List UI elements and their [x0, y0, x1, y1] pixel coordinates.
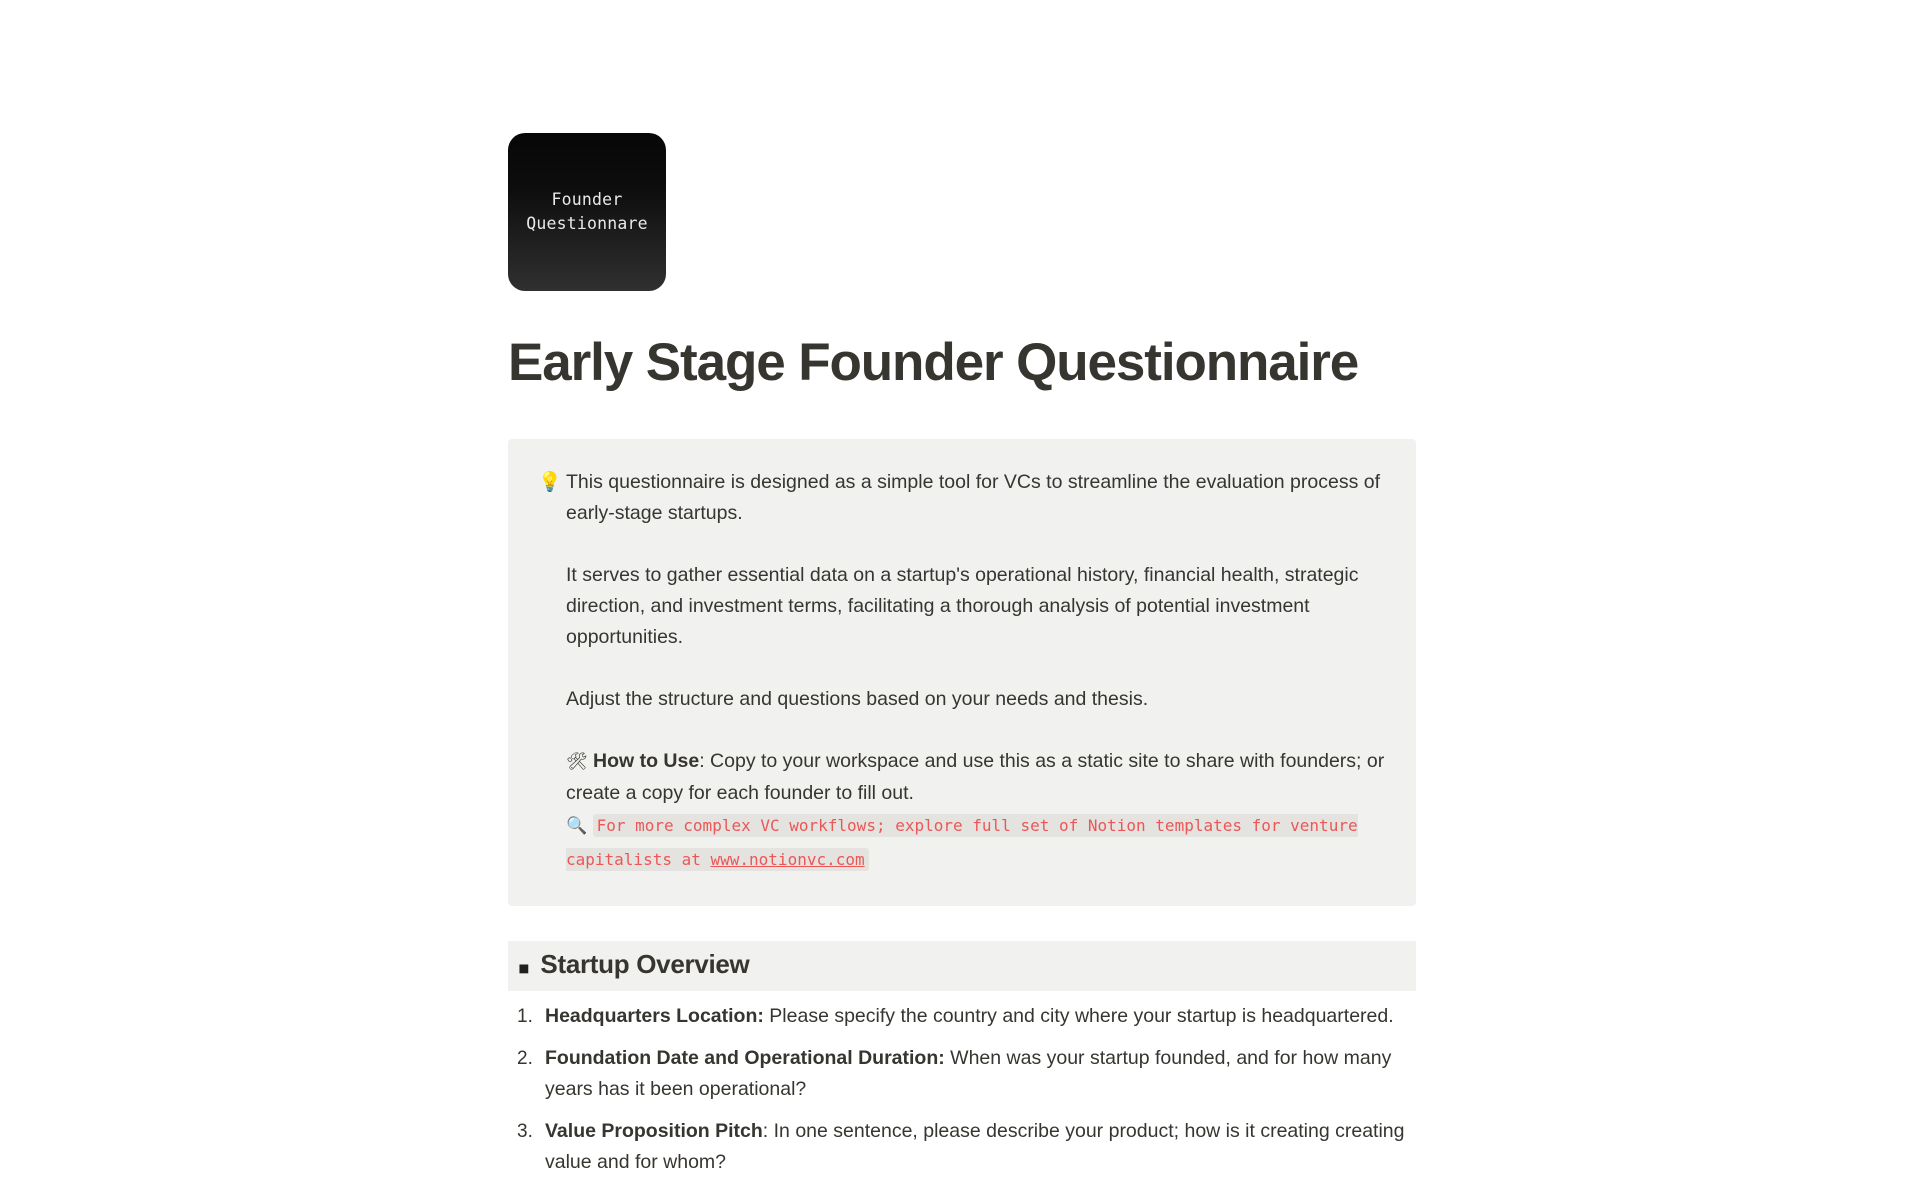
callout-paragraph-2: It serves to gather essential data on a … — [566, 560, 1386, 653]
callout-paragraph-3: Adjust the structure and questions based… — [566, 684, 1386, 715]
question-text: Please specify the country and city wher… — [764, 1005, 1394, 1027]
how-to-use-paragraph: 🛠 How to Use: Copy to your workspace and… — [566, 746, 1386, 809]
notionvc-link[interactable]: www.notionvc.com — [711, 850, 865, 869]
section-heading-startup-overview: ◾ Startup Overview — [508, 941, 1416, 991]
page-icon-container: Founder Questionnare — [508, 0, 1416, 291]
list-item: Foundation Date and Operational Duration… — [508, 1043, 1416, 1105]
question-label: Headquarters Location: — [545, 1005, 764, 1027]
startup-overview-question-list: Headquarters Location: Please specify th… — [508, 1001, 1416, 1178]
lightbulb-icon: 💡 — [538, 467, 566, 498]
list-item: Value Proposition Pitch: In one sentence… — [508, 1116, 1416, 1178]
question-label: Foundation Date and Operational Duration… — [545, 1047, 945, 1069]
callout-paragraph-1: This questionnaire is designed as a simp… — [566, 467, 1386, 529]
intro-callout: 💡 This questionnaire is designed as a si… — [508, 439, 1416, 906]
document-page: Founder Questionnare Early Stage Founder… — [0, 0, 1920, 1199]
magnifying-glass-icon: 🔍 — [566, 816, 587, 836]
code-note-text: For more complex VC workflows; explore f… — [566, 814, 1358, 871]
code-note-body: For more complex VC workflows; explore f… — [566, 816, 1358, 869]
how-to-use-separator: : — [699, 750, 710, 772]
list-item: Headquarters Location: Please specify th… — [508, 1001, 1416, 1032]
callout-inner: 💡 This questionnaire is designed as a si… — [538, 467, 1386, 876]
how-to-use-label: How to Use — [593, 750, 699, 772]
code-note-paragraph: 🔍 For more complex VC workflows; explore… — [566, 809, 1386, 876]
page-icon-label: Founder Questionnare — [526, 188, 648, 236]
page-content: Founder Questionnare Early Stage Founder… — [508, 0, 1416, 1199]
section-title-startup-overview: Startup Overview — [540, 948, 749, 982]
page-title: Early Stage Founder Questionnaire — [508, 333, 1416, 394]
page-cover-icon[interactable]: Founder Questionnare — [508, 133, 666, 291]
question-label: Value Proposition Pitch — [545, 1120, 763, 1142]
hammer-wrench-icon: 🛠 — [566, 752, 588, 772]
black-square-icon: ◾ — [518, 958, 529, 979]
callout-body: This questionnaire is designed as a simp… — [566, 467, 1386, 876]
